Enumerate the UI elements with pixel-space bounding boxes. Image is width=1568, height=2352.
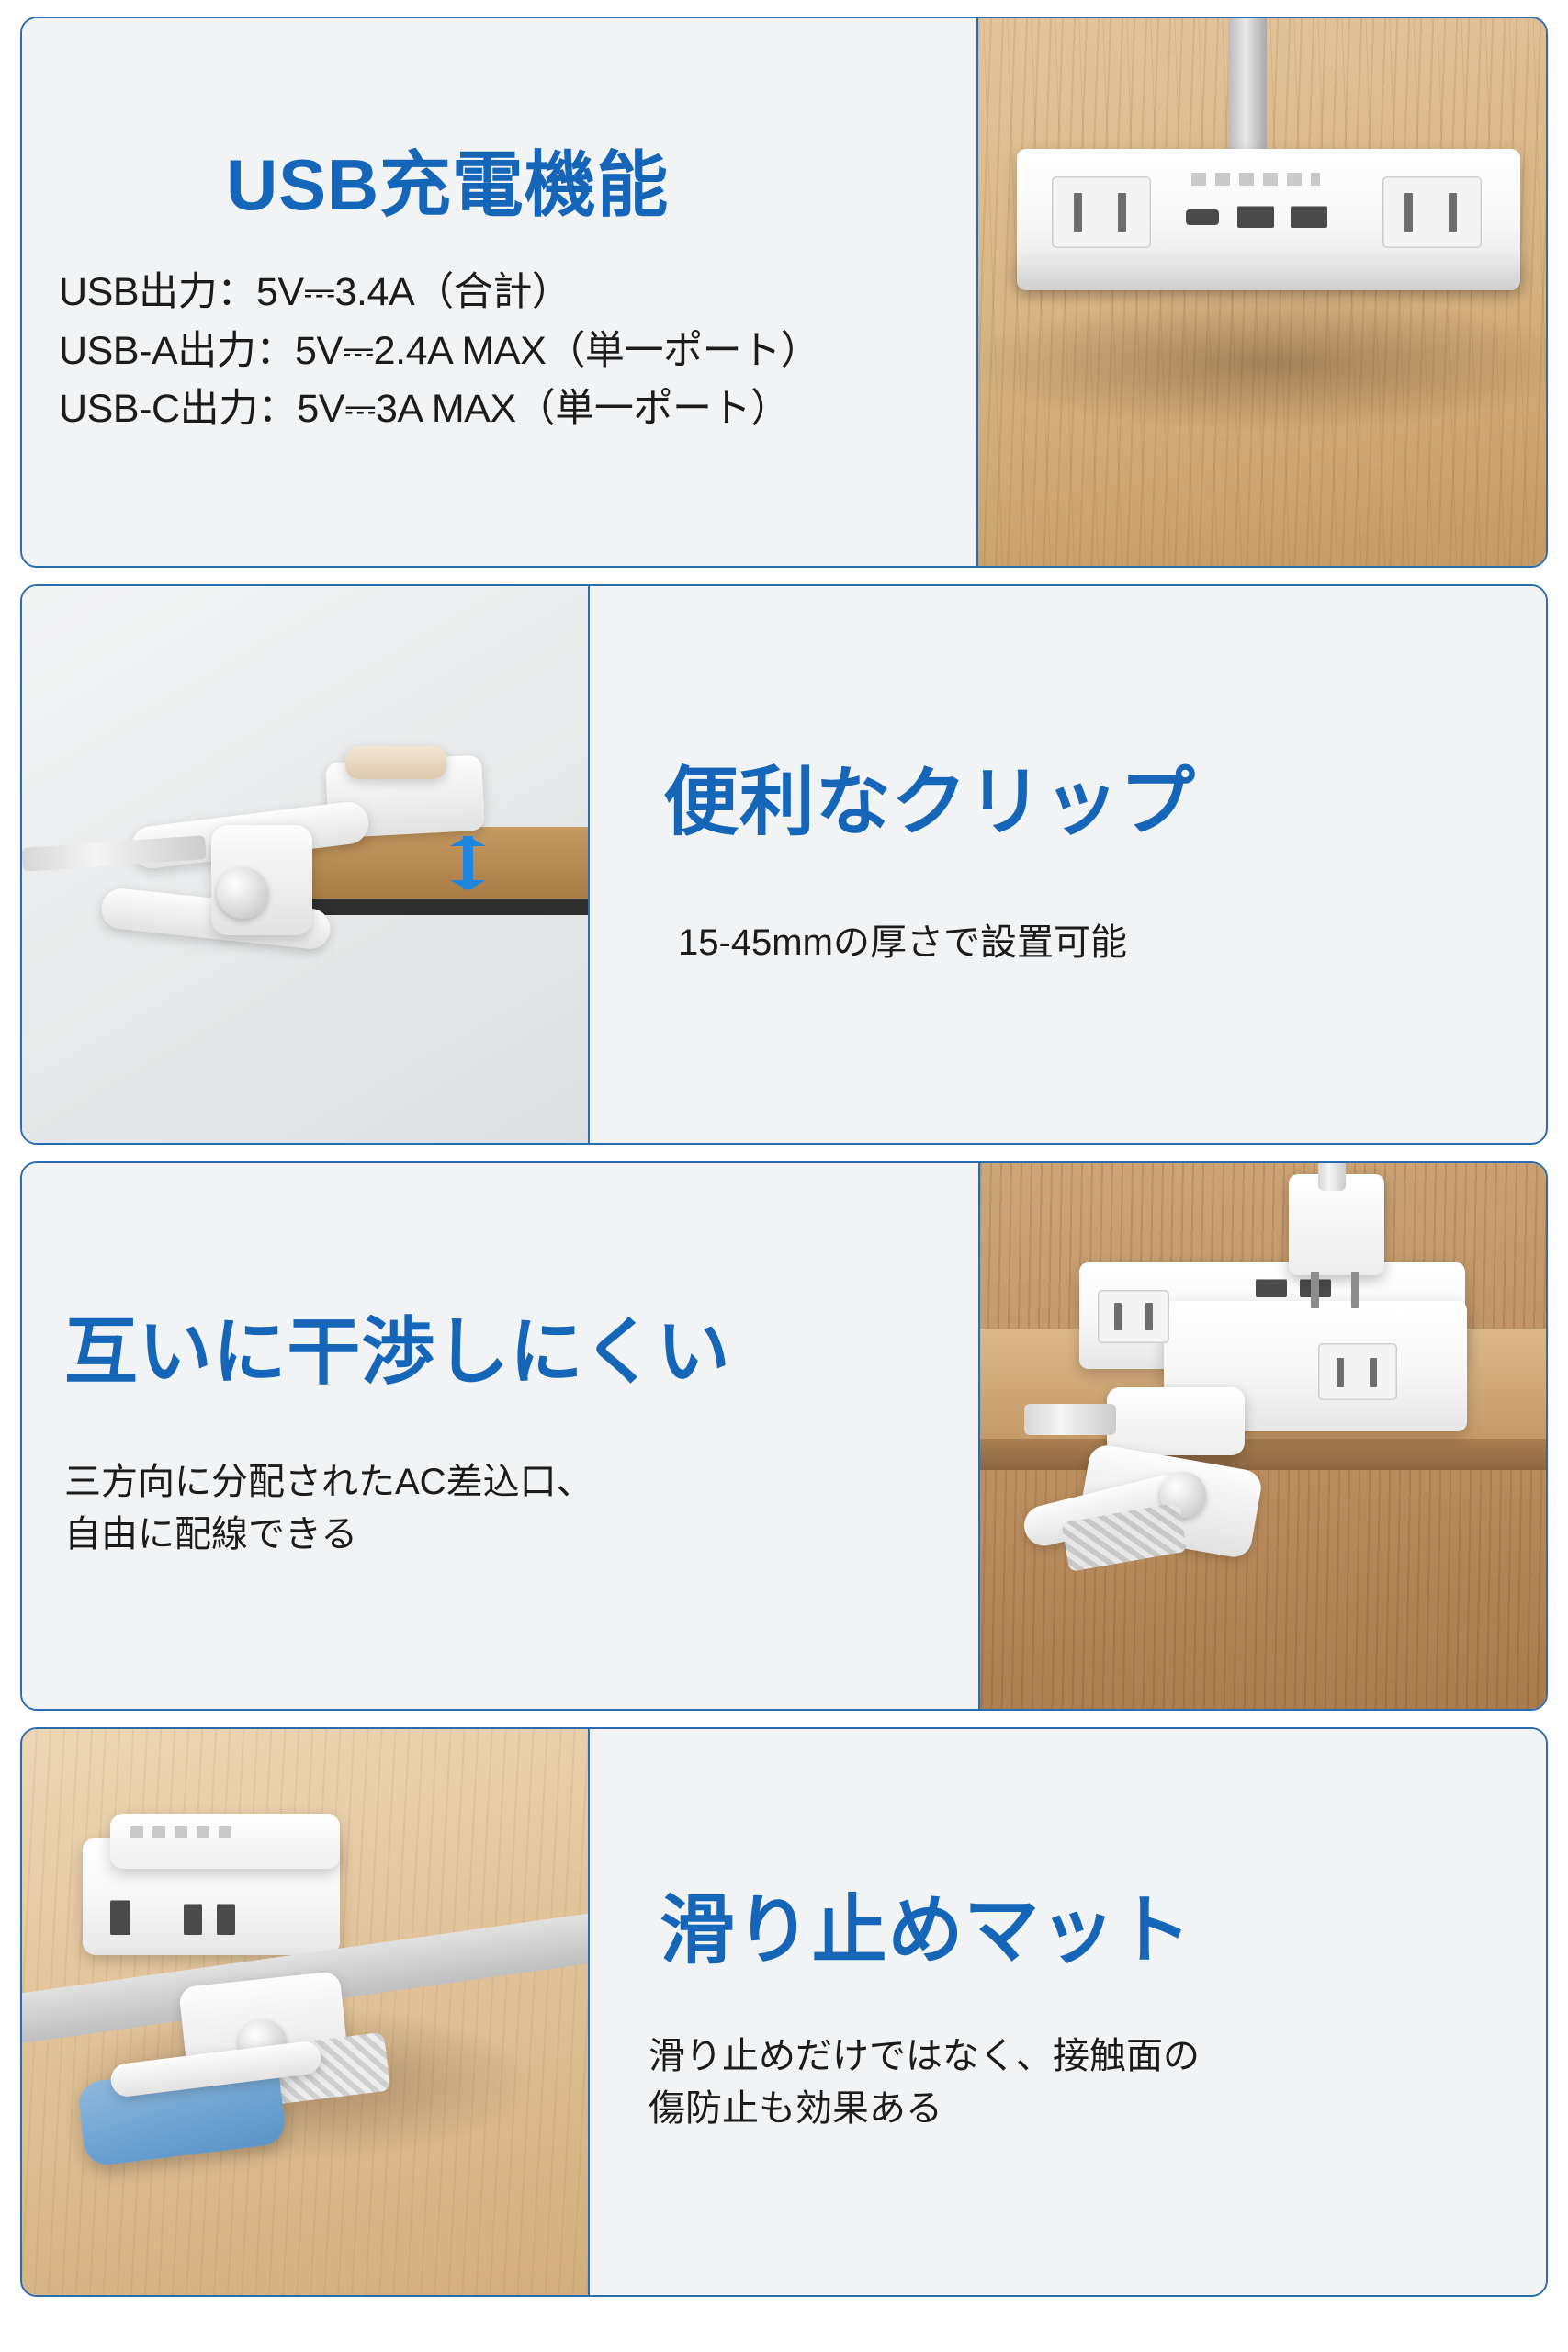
panel-2-body: 15-45mmの厚さで設置可能 <box>678 917 1546 969</box>
panel-2-text-column: 便利なクリップ 15-45mmの厚さで設置可能 <box>590 586 1546 1143</box>
panel-4-photo <box>22 1729 590 2295</box>
panel-1-body: USB出力：5V⎓3.4A（合計） USB-A出力：5V⎓2.4A MAX（単一… <box>59 264 976 439</box>
panel-3-body: 三方向に分配されたAC差込口、 自由に配線できる <box>64 1456 978 1561</box>
panel-4-headline: 滑り止めマット <box>660 1889 1546 1973</box>
feature-panel-usb-charging: USB充電機能 USB出力：5V⎓3.4A（合計） USB-A出力：5V⎓2.4… <box>20 17 1548 568</box>
panel-3-headline: 互いに干渉しにくい <box>64 1311 978 1394</box>
panel-2-headline: 便利なクリップ <box>663 761 1546 845</box>
panel-1-text-column: USB充電機能 USB出力：5V⎓3.4A（合計） USB-A出力：5V⎓2.4… <box>22 18 976 566</box>
panel-4-text-column: 滑り止めマット 滑り止めだけではなく、接触面の 傷防止も効果ある <box>590 1729 1546 2295</box>
panel-1-headline: USB充電機能 <box>226 145 976 225</box>
feature-panel-no-interference: 互いに干渉しにくい 三方向に分配されたAC差込口、 自由に配線できる <box>20 1161 1548 1711</box>
panel-3-text-column: 互いに干渉しにくい 三方向に分配されたAC差込口、 自由に配線できる <box>22 1163 978 1709</box>
feature-panel-anti-slip-mat: 滑り止めマット 滑り止めだけではなく、接触面の 傷防止も効果ある <box>20 1727 1548 2297</box>
panel-3-photo <box>978 1163 1546 1709</box>
panel-1-photo <box>976 18 1546 566</box>
panel-2-photo <box>22 586 590 1143</box>
panel-4-body: 滑り止めだけではなく、接触面の 傷防止も効果ある <box>649 2030 1546 2135</box>
infographic-page: USB充電機能 USB出力：5V⎓3.4A（合計） USB-A出力：5V⎓2.4… <box>0 0 1568 2352</box>
feature-panel-convenient-clip: 便利なクリップ 15-45mmの厚さで設置可能 <box>20 584 1548 1145</box>
